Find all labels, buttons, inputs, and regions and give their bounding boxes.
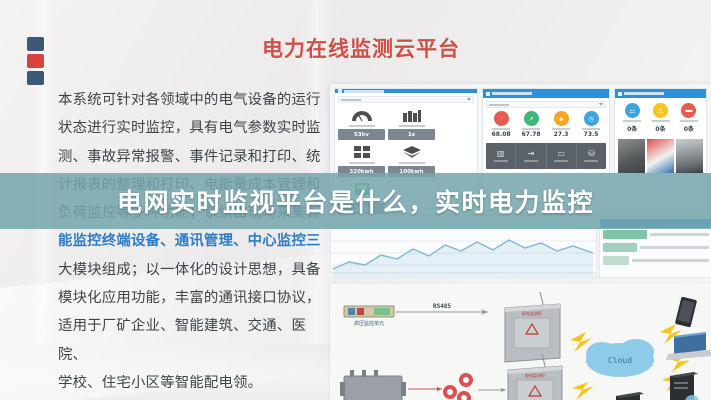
metric-tile[interactable]: 100kwh — [388, 143, 435, 177]
panel-header — [483, 89, 609, 98]
topology-diagram: 高压监控单元 RS485 配电监测柜 — [330, 284, 711, 400]
metric-tile[interactable]: 53kv — [338, 106, 385, 140]
node-transformer: 变压器 — [340, 370, 406, 400]
paragraph-line: 大模块组成；以一体化的设计思想，具备 — [58, 256, 326, 284]
tile-value: 1s — [388, 129, 435, 140]
rank-bar — [603, 256, 629, 265]
panel-title-bar — [624, 92, 664, 95]
tile-caption — [349, 162, 375, 164]
meter-icon: ▥ — [497, 150, 505, 158]
node-cloud: Cloud — [586, 339, 654, 377]
tile-caption — [349, 125, 375, 127]
panel-header — [615, 89, 706, 98]
rank-value — [640, 246, 709, 249]
paragraph-line: 本系统可针对各领域中的电气设备的运行 — [58, 86, 326, 114]
node-cabinet-1: 配电监测柜 — [505, 292, 560, 362]
article-body: 本系统可针对各领域中的电气设备的运行 状态进行实时监控，具有电气参数实时监 测、… — [58, 86, 326, 397]
rank-value — [650, 233, 709, 236]
clock-icon: ◷ — [584, 111, 599, 126]
kpi-item: ◷ 73.5 — [576, 111, 606, 138]
node-ct: 互感器 — [443, 373, 473, 400]
node-server-2: 总公司调度中心 — [614, 392, 646, 400]
svg-text:高压监控单元: 高压监控单元 — [354, 320, 384, 327]
overlay-title: 电网实时监视平台是什么，实时电力监控 — [0, 173, 711, 229]
toolbar-button[interactable]: ▥ — [486, 143, 516, 169]
svg-text:Cloud: Cloud — [608, 356, 632, 365]
photo-equipment — [676, 139, 703, 173]
photo-flag — [647, 139, 674, 173]
panel-icon — [486, 92, 490, 96]
panel-icon — [338, 89, 342, 93]
photo-strip — [618, 139, 703, 173]
stat-label — [652, 120, 670, 122]
power-icon: ◔ — [494, 111, 509, 126]
factory-icon — [388, 106, 435, 123]
warn-icon: ⚠ — [653, 103, 668, 118]
paragraph-line: 测、事故异常报警、事件记录和打印、统 — [58, 143, 326, 171]
alarm-stat: ⚠ 0条 — [648, 103, 674, 133]
tile-caption — [399, 125, 425, 127]
network-icon: ⛁ — [588, 150, 595, 158]
metric-tile[interactable]: 320kwh — [338, 143, 385, 177]
svg-text:配电监测柜: 配电监测柜 — [525, 372, 545, 378]
stat-value: 0条 — [627, 124, 637, 133]
minus-icon: ▬ — [681, 103, 696, 118]
toolbar-label — [584, 160, 598, 162]
kpi-item: ◔ 68.08 — [486, 111, 516, 138]
trend-icon: ↗ — [524, 111, 539, 126]
dashboard-toolbar: ▥ ⇥ ▭ ⛁ — [486, 143, 606, 169]
paragraph-line: 模块化应用功能，丰富的通讯接口协议， — [58, 284, 326, 312]
battery-icon: ▭ — [557, 150, 565, 158]
chevron-down-icon — [467, 98, 471, 101]
square-middle — [27, 54, 44, 68]
square-top — [27, 37, 44, 51]
grid-icon — [338, 143, 385, 160]
alarm-stat: ▬ 0条 — [676, 103, 702, 133]
drop-icon: ◈ — [554, 111, 569, 126]
node-server-1: 办公司调度中心 — [670, 372, 704, 400]
toolbar-button[interactable]: ⇥ — [516, 143, 546, 169]
svg-text:RS485: RS485 — [433, 303, 451, 310]
metric-tile[interactable]: 1s — [388, 106, 435, 140]
rank-row — [600, 241, 711, 254]
tile-value: 53kv — [338, 129, 385, 140]
rank-row — [600, 254, 711, 267]
rank-value — [632, 259, 709, 262]
kpi-label — [492, 128, 510, 130]
stat-label — [680, 120, 698, 122]
panel-title-bar — [492, 92, 532, 95]
date-range-select[interactable] — [486, 101, 606, 108]
toolbar-label — [554, 160, 568, 162]
article-heading: 电力在线监测云平台 — [262, 33, 460, 63]
toolbar-label — [494, 160, 508, 162]
tile-caption — [399, 162, 425, 164]
screenshot-canvas: 电力在线监测云平台 本系统可针对各领域中的电气设备的运行 状态进行实时监控，具有… — [0, 0, 711, 400]
kpi-item: ↗ 67.78 — [516, 111, 546, 138]
chevron-down-icon — [599, 103, 603, 106]
svg-text:配电监测柜: 配电监测柜 — [522, 310, 542, 316]
paragraph-line: 学校、住宅小区等智能配电领。 — [58, 369, 326, 397]
kpi-value: 67.78 — [522, 131, 541, 138]
rank-row — [600, 228, 711, 241]
kpi-label — [522, 128, 540, 130]
filter-select[interactable] — [338, 96, 474, 103]
toolbar-button[interactable]: ⛁ — [577, 143, 606, 169]
select-label — [341, 99, 361, 101]
select-label — [489, 104, 509, 106]
kpi-value: 73.5 — [584, 131, 599, 138]
kpi-value: 27.3 — [554, 131, 569, 138]
kpi-label — [552, 128, 570, 130]
kpi-label — [582, 128, 600, 130]
toolbar-label — [524, 160, 538, 162]
stat-value: 0条 — [684, 124, 694, 133]
paragraph-line-highlight: 能监控终端设备、通讯管理、中心监控三 — [58, 227, 326, 255]
node-hv-unit: 高压监控单元 — [344, 306, 394, 327]
alert-icon: ⚏ — [625, 103, 640, 118]
rank-bar — [603, 230, 647, 239]
switch-icon: ⇥ — [528, 150, 535, 158]
alarm-stat: ⚏ 0条 — [619, 103, 645, 133]
photo-building — [618, 139, 645, 173]
square-bottom — [27, 71, 44, 85]
toolbar-button[interactable]: ▭ — [547, 143, 577, 169]
kpi-item: ◈ 27.3 — [546, 111, 576, 138]
stat-value: 0条 — [655, 124, 665, 133]
paragraph-line: 状态进行实时监控，具有电气参数实时监 — [58, 114, 326, 142]
rank-bar — [603, 243, 637, 252]
kpi-value: 68.08 — [492, 131, 511, 138]
layers-icon — [388, 143, 435, 160]
node-phone — [675, 296, 697, 327]
decorative-squares — [27, 37, 44, 85]
gauge-icon — [338, 106, 385, 123]
panel-icon — [618, 92, 622, 96]
stat-label — [623, 120, 641, 122]
paragraph-line: 适用于厂矿企业、智能建筑、交通、医院、 — [58, 312, 326, 369]
